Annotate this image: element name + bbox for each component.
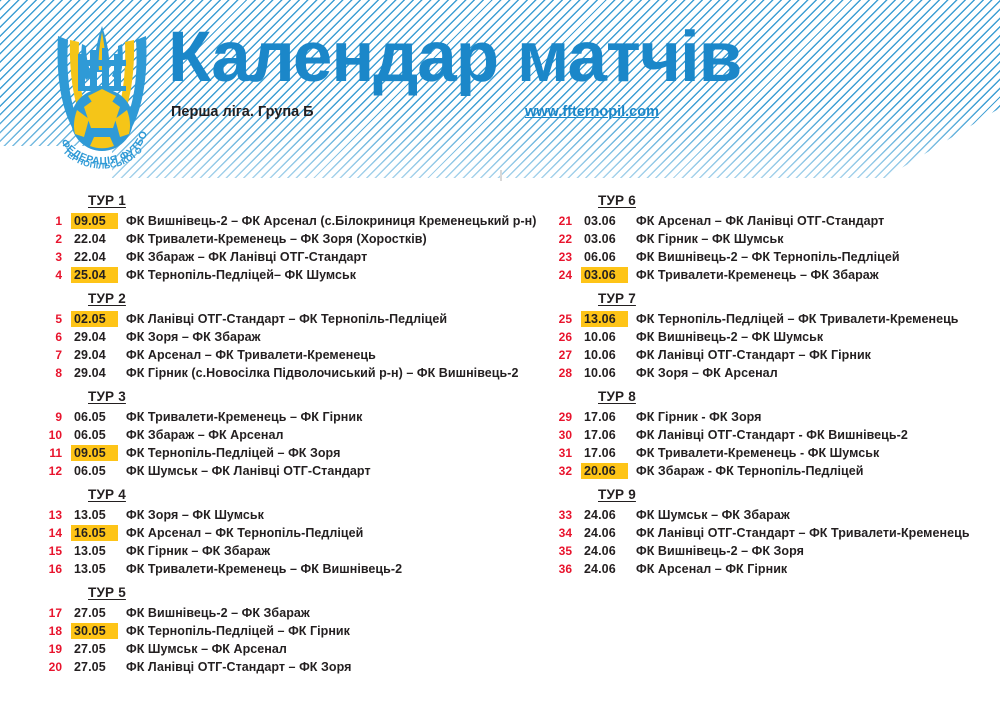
subtitle-row: Перша ліга. Група Б www.ffternopil.com bbox=[168, 104, 888, 124]
match-teams: ФК Збараж - ФК Тернопіль-Педліцей bbox=[636, 464, 863, 478]
match-teams: ФК Тривалети-Кременець – ФК Збараж bbox=[636, 268, 879, 282]
match-date: 13.05 bbox=[71, 543, 118, 559]
match-date: 29.04 bbox=[71, 365, 118, 381]
match-number: 31 bbox=[548, 446, 572, 460]
match-teams: ФК Ланівці ОТГ-Стандарт – ФК Тривалети-К… bbox=[636, 526, 970, 540]
match-row: 3524.06ФК Вишнівець-2 – ФК Зоря bbox=[548, 543, 998, 561]
match-row: 3324.06ФК Шумськ – ФК Збараж bbox=[548, 507, 998, 525]
match-teams: ФК Збараж – ФК Арсенал bbox=[126, 428, 284, 442]
match-date: 06.05 bbox=[71, 409, 118, 425]
match-row: 2917.06ФК Гірник - ФК Зоря bbox=[548, 409, 998, 427]
match-date: 10.06 bbox=[581, 329, 628, 345]
match-number: 13 bbox=[38, 508, 62, 522]
match-date: 03.06 bbox=[581, 231, 628, 247]
match-number: 5 bbox=[38, 312, 62, 326]
match-date-highlighted: 16.05 bbox=[71, 525, 118, 541]
match-date: 03.06 bbox=[581, 213, 628, 229]
match-number: 4 bbox=[38, 268, 62, 282]
match-row: 2027.05ФК Ланівці ОТГ-Стандарт – ФК Зоря bbox=[38, 659, 558, 677]
match-teams: ФК Збараж – ФК Ланівці ОТГ-Стандарт bbox=[126, 250, 367, 264]
round-title: ТУР 6 bbox=[598, 188, 998, 213]
round-title: ТУР 5 bbox=[88, 580, 558, 605]
match-teams: ФК Тернопіль-Педліцей – ФК Гірник bbox=[126, 624, 350, 638]
schedule-left-column: ТУР 1109.05ФК Вишнівець-2 – ФК Арсенал (… bbox=[38, 188, 558, 678]
match-row: 2810.06ФК Зоря – ФК Арсенал bbox=[548, 365, 998, 383]
match-row: 829.04ФК Гірник (с.Новосілка Підволочись… bbox=[38, 365, 558, 383]
match-number: 36 bbox=[548, 562, 572, 576]
match-number: 32 bbox=[548, 464, 572, 478]
match-date-highlighted: 02.05 bbox=[71, 311, 118, 327]
match-number: 20 bbox=[38, 660, 62, 674]
round-title: ТУР 9 bbox=[598, 482, 998, 507]
match-row: 1313.05ФК Зоря – ФК Шумськ bbox=[38, 507, 558, 525]
match-teams: ФК Тривалети-Кременець – ФК Зоря (Хорост… bbox=[126, 232, 427, 246]
match-row: 2203.06ФК Гірник – ФК Шумськ bbox=[548, 231, 998, 249]
match-date-highlighted: 09.05 bbox=[71, 213, 118, 229]
match-row: 502.05ФК Ланівці ОТГ-Стандарт – ФК Терно… bbox=[38, 311, 558, 329]
match-teams: ФК Ланівці ОТГ-Стандарт – ФК Зоря bbox=[126, 660, 351, 674]
match-teams: ФК Тривалети-Кременець - ФК Шумськ bbox=[636, 446, 879, 460]
match-teams: ФК Вишнівець-2 – ФК Збараж bbox=[126, 606, 310, 620]
match-date: 17.06 bbox=[581, 427, 628, 443]
match-row: 2610.06ФК Вишнівець-2 – ФК Шумськ bbox=[548, 329, 998, 347]
match-number: 22 bbox=[548, 232, 572, 246]
match-number: 16 bbox=[38, 562, 62, 576]
match-row: 3017.06ФК Ланівці ОТГ-Стандарт - ФК Вишн… bbox=[548, 427, 998, 445]
match-teams: ФК Тривалети-Кременець – ФК Вишнівець-2 bbox=[126, 562, 402, 576]
match-row: 222.04ФК Тривалети-Кременець – ФК Зоря (… bbox=[38, 231, 558, 249]
match-teams: ФК Арсенал – ФК Тернопіль-Педліцей bbox=[126, 526, 363, 540]
match-teams: ФК Тривалети-Кременець – ФК Гірник bbox=[126, 410, 362, 424]
match-date: 06.05 bbox=[71, 463, 118, 479]
match-number: 6 bbox=[38, 330, 62, 344]
round-block: ТУР 93324.06ФК Шумськ – ФК Збараж3424.06… bbox=[548, 482, 998, 579]
round-block: ТУР 51727.05ФК Вишнівець-2 – ФК Збараж18… bbox=[38, 580, 558, 677]
match-date: 27.05 bbox=[71, 605, 118, 621]
round-block: ТУР 82917.06ФК Гірник - ФК Зоря3017.06ФК… bbox=[548, 384, 998, 481]
match-teams: ФК Вишнівець-2 – ФК Шумськ bbox=[636, 330, 823, 344]
match-row: 109.05ФК Вишнівець-2 – ФК Арсенал (с.Біл… bbox=[38, 213, 558, 231]
match-number: 21 bbox=[548, 214, 572, 228]
match-number: 24 bbox=[548, 268, 572, 282]
match-date: 22.04 bbox=[71, 231, 118, 247]
round-block: ТУР 41313.05ФК Зоря – ФК Шумськ1416.05ФК… bbox=[38, 482, 558, 579]
match-row: 629.04ФК Зоря – ФК Збараж bbox=[38, 329, 558, 347]
match-number: 29 bbox=[548, 410, 572, 424]
match-date-highlighted: 25.04 bbox=[71, 267, 118, 283]
match-date-highlighted: 20.06 bbox=[581, 463, 628, 479]
match-row: 1006.05ФК Збараж – ФК Арсенал bbox=[38, 427, 558, 445]
match-teams: ФК Гірник – ФК Шумськ bbox=[636, 232, 784, 246]
title-block: Календар матчів Перша ліга. Група Б www.… bbox=[168, 22, 888, 124]
match-date: 17.06 bbox=[581, 445, 628, 461]
match-number: 12 bbox=[38, 464, 62, 478]
match-date: 24.06 bbox=[581, 561, 628, 577]
match-row: 2710.06ФК Ланівці ОТГ-Стандарт – ФК Гірн… bbox=[548, 347, 998, 365]
match-date: 13.05 bbox=[71, 507, 118, 523]
match-teams: ФК Тернопіль-Педліцей– ФК Шумськ bbox=[126, 268, 356, 282]
match-row: 425.04ФК Тернопіль-Педліцей– ФК Шумськ bbox=[38, 267, 558, 285]
match-number: 28 bbox=[548, 366, 572, 380]
match-number: 9 bbox=[38, 410, 62, 424]
round-block: ТУР 1109.05ФК Вишнівець-2 – ФК Арсенал (… bbox=[38, 188, 558, 285]
schedule-right-column: ТУР 62103.06ФК Арсенал – ФК Ланівці ОТГ-… bbox=[548, 188, 998, 580]
match-teams: ФК Вишнівець-2 – ФК Тернопіль-Педліцей bbox=[636, 250, 900, 264]
match-row: 1727.05ФК Вишнівець-2 – ФК Збараж bbox=[38, 605, 558, 623]
match-row: 2403.06ФК Тривалети-Кременець – ФК Збара… bbox=[548, 267, 998, 285]
match-date: 27.05 bbox=[71, 659, 118, 675]
match-row: 1206.05ФК Шумськ – ФК Ланівці ОТГ-Станда… bbox=[38, 463, 558, 481]
match-number: 11 bbox=[38, 446, 62, 460]
match-date: 29.04 bbox=[71, 347, 118, 363]
match-teams: ФК Гірник – ФК Збараж bbox=[126, 544, 270, 558]
website-link[interactable]: www.ffternopil.com bbox=[525, 104, 659, 120]
match-number: 33 bbox=[548, 508, 572, 522]
match-row: 1513.05ФК Гірник – ФК Збараж bbox=[38, 543, 558, 561]
match-date: 13.05 bbox=[71, 561, 118, 577]
match-row: 1830.05ФК Тернопіль-Педліцей – ФК Гірник bbox=[38, 623, 558, 641]
match-teams: ФК Арсенал – ФК Гірник bbox=[636, 562, 787, 576]
round-title: ТУР 3 bbox=[88, 384, 558, 409]
match-row: 1613.05ФК Тривалети-Кременець – ФК Вишні… bbox=[38, 561, 558, 579]
match-row: 3624.06ФК Арсенал – ФК Гірник bbox=[548, 561, 998, 579]
match-row: 2306.06ФК Вишнівець-2 – ФК Тернопіль-Пед… bbox=[548, 249, 998, 267]
round-block: ТУР 2502.05ФК Ланівці ОТГ-Стандарт – ФК … bbox=[38, 286, 558, 383]
match-date: 17.06 bbox=[581, 409, 628, 425]
match-row: 1109.05ФК Тернопіль-Педліцей – ФК Зоря bbox=[38, 445, 558, 463]
match-row: 2103.06ФК Арсенал – ФК Ланівці ОТГ-Станд… bbox=[548, 213, 998, 231]
match-teams: ФК Шумськ – ФК Збараж bbox=[636, 508, 790, 522]
match-number: 30 bbox=[548, 428, 572, 442]
page-header: ФЕДЕРАЦІЯ ФУТБОЛУ ТЕРНОПІЛЬСЬКОЇ ОБЛАСТІ… bbox=[0, 0, 1000, 178]
match-row: 1416.05ФК Арсенал – ФК Тернопіль-Педліце… bbox=[38, 525, 558, 543]
match-teams: ФК Вишнівець-2 – ФК Зоря bbox=[636, 544, 804, 558]
match-date: 24.06 bbox=[581, 543, 628, 559]
match-teams: ФК Арсенал – ФК Тривалети-Кременець bbox=[126, 348, 376, 362]
page-title: Календар матчів bbox=[168, 22, 888, 93]
match-teams: ФК Ланівці ОТГ-Стандарт – ФК Тернопіль-П… bbox=[126, 312, 447, 326]
match-number: 19 bbox=[38, 642, 62, 656]
match-row: 1927.05ФК Шумськ – ФК Арсенал bbox=[38, 641, 558, 659]
round-block: ТУР 72513.06ФК Тернопіль-Педліцей – ФК Т… bbox=[548, 286, 998, 383]
round-title: ТУР 4 bbox=[88, 482, 558, 507]
match-date: 27.05 bbox=[71, 641, 118, 657]
match-teams: ФК Тернопіль-Педліцей – ФК Зоря bbox=[126, 446, 340, 460]
ffternopil-emblem-logo: ФЕДЕРАЦІЯ ФУТБОЛУ ТЕРНОПІЛЬСЬКОЇ ОБЛАСТІ bbox=[46, 14, 158, 170]
match-date: 24.06 bbox=[581, 507, 628, 523]
match-date-highlighted: 13.06 bbox=[581, 311, 628, 327]
match-row: 906.05ФК Тривалети-Кременець – ФК Гірник bbox=[38, 409, 558, 427]
match-teams: ФК Зоря – ФК Шумськ bbox=[126, 508, 264, 522]
match-teams: ФК Тернопіль-Педліцей – ФК Тривалети-Кре… bbox=[636, 312, 959, 326]
match-number: 3 bbox=[38, 250, 62, 264]
match-row: 729.04ФК Арсенал – ФК Тривалети-Кременец… bbox=[38, 347, 558, 365]
match-teams: ФК Шумськ – ФК Ланівці ОТГ-Стандарт bbox=[126, 464, 371, 478]
match-row: 3220.06ФК Збараж - ФК Тернопіль-Педліцей bbox=[548, 463, 998, 481]
match-number: 35 bbox=[548, 544, 572, 558]
match-row: 2513.06ФК Тернопіль-Педліцей – ФК Тривал… bbox=[548, 311, 998, 329]
match-number: 17 bbox=[38, 606, 62, 620]
match-date-highlighted: 09.05 bbox=[71, 445, 118, 461]
round-title: ТУР 1 bbox=[88, 188, 558, 213]
match-teams: ФК Зоря – ФК Арсенал bbox=[636, 366, 778, 380]
round-block: ТУР 3906.05ФК Тривалети-Кременець – ФК Г… bbox=[38, 384, 558, 481]
match-number: 34 bbox=[548, 526, 572, 540]
match-number: 8 bbox=[38, 366, 62, 380]
match-row: 322.04ФК Збараж – ФК Ланівці ОТГ-Стандар… bbox=[38, 249, 558, 267]
match-date-highlighted: 30.05 bbox=[71, 623, 118, 639]
match-teams: ФК Шумськ – ФК Арсенал bbox=[126, 642, 287, 656]
match-number: 15 bbox=[38, 544, 62, 558]
match-number: 23 bbox=[548, 250, 572, 264]
match-date: 10.06 bbox=[581, 347, 628, 363]
match-date-highlighted: 03.06 bbox=[581, 267, 628, 283]
match-teams: ФК Ланівці ОТГ-Стандарт – ФК Гірник bbox=[636, 348, 871, 362]
match-number: 14 bbox=[38, 526, 62, 540]
round-title: ТУР 2 bbox=[88, 286, 558, 311]
match-teams: ФК Арсенал – ФК Ланівці ОТГ-Стандарт bbox=[636, 214, 884, 228]
match-teams: ФК Вишнівець-2 – ФК Арсенал (с.Білокрини… bbox=[126, 214, 536, 228]
match-teams: ФК Гірник (с.Новосілка Підволочиський р-… bbox=[126, 366, 518, 380]
match-teams: ФК Зоря – ФК Збараж bbox=[126, 330, 261, 344]
match-row: 3424.06ФК Ланівці ОТГ-Стандарт – ФК Трив… bbox=[548, 525, 998, 543]
round-title: ТУР 8 bbox=[598, 384, 998, 409]
match-date: 24.06 bbox=[581, 525, 628, 541]
match-date: 22.04 bbox=[71, 249, 118, 265]
match-number: 1 bbox=[38, 214, 62, 228]
match-number: 7 bbox=[38, 348, 62, 362]
round-title: ТУР 7 bbox=[598, 286, 998, 311]
match-date: 29.04 bbox=[71, 329, 118, 345]
match-teams: ФК Ланівці ОТГ-Стандарт - ФК Вишнівець-2 bbox=[636, 428, 908, 442]
round-block: ТУР 62103.06ФК Арсенал – ФК Ланівці ОТГ-… bbox=[548, 188, 998, 285]
match-date: 06.06 bbox=[581, 249, 628, 265]
match-date: 10.06 bbox=[581, 365, 628, 381]
match-number: 18 bbox=[38, 624, 62, 638]
league-subtitle: Перша ліга. Група Б bbox=[171, 104, 314, 120]
match-number: 25 bbox=[548, 312, 572, 326]
scan-artifact-mark bbox=[500, 170, 502, 181]
match-teams: ФК Гірник - ФК Зоря bbox=[636, 410, 762, 424]
match-number: 27 bbox=[548, 348, 572, 362]
match-number: 26 bbox=[548, 330, 572, 344]
match-number: 2 bbox=[38, 232, 62, 246]
match-number: 10 bbox=[38, 428, 62, 442]
match-date: 06.05 bbox=[71, 427, 118, 443]
match-row: 3117.06ФК Тривалети-Кременець - ФК Шумсь… bbox=[548, 445, 998, 463]
